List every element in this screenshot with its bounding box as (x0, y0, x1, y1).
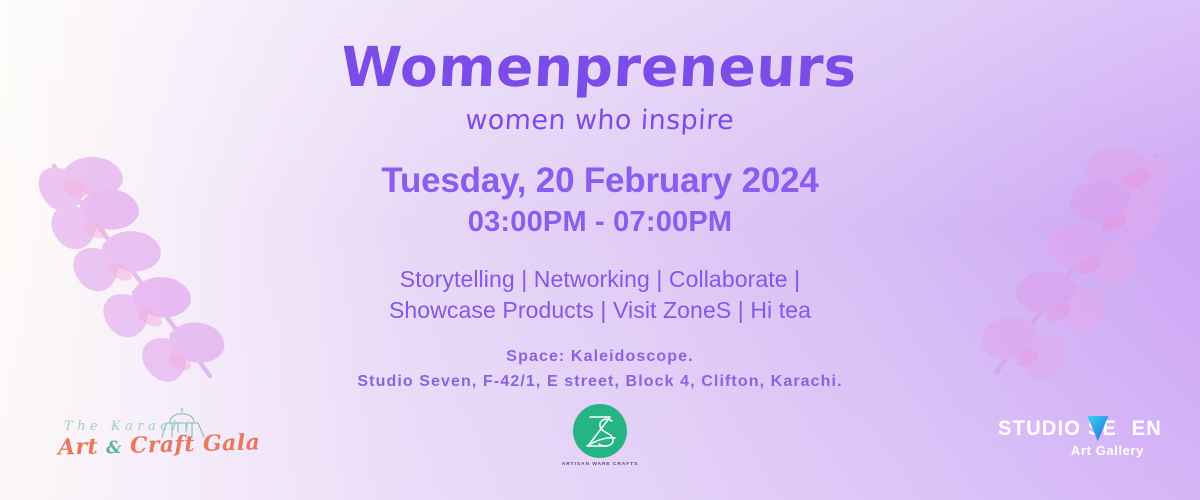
zs-monogram-icon (573, 404, 627, 458)
banner-content: Womenpreneurs women who inspire Tuesday,… (0, 0, 1200, 395)
venue-address: Studio Seven, F-42/1, E street, Block 4,… (0, 370, 1200, 395)
activities-line-1: Storytelling | Networking | Collaborate … (0, 264, 1200, 295)
zs-circle (573, 404, 627, 458)
studio-seven-text-end: EN (1132, 417, 1162, 440)
activities-list: Storytelling | Networking | Collaborate … (0, 238, 1200, 326)
event-date: Tuesday, 20 February 2024 (0, 134, 1200, 200)
venue-block: Space: Kaleidoscope. Studio Seven, F-42/… (0, 326, 1200, 395)
gala-ampersand: & (106, 438, 122, 458)
logo-art-craft-gala: The Karachi Art & Craft Gala (48, 404, 228, 480)
studio-seven-tagline: Art Gallery (998, 444, 1148, 457)
studio-seven-v-triangle-icon (1086, 415, 1109, 442)
zs-caption: ARTISAN WARE CRAFTS (557, 461, 643, 466)
activities-line-2: Showcase Products | Visit ZoneS | Hi tea (0, 295, 1200, 326)
venue-space: Space: Kaleidoscope. (0, 345, 1200, 370)
studio-seven-wordmark: STUDIO SEVEN (998, 418, 1142, 439)
gala-word-craft-gala: Craft Gala (122, 429, 261, 459)
event-title: Womenpreneurs (0, 0, 1200, 95)
gala-main-text: Art & Craft Gala (58, 429, 261, 460)
logo-zs-emblem: ARTISAN WARE CRAFTS (568, 404, 632, 480)
event-subtitle: women who inspire (0, 95, 1200, 134)
event-time: 03:00PM - 07:00PM (0, 200, 1200, 238)
logo-studio-seven: STUDIO SEVEN Art Gallery (998, 418, 1148, 466)
gala-word-art: Art (58, 433, 107, 460)
event-banner: Womenpreneurs women who inspire Tuesday,… (0, 0, 1200, 500)
